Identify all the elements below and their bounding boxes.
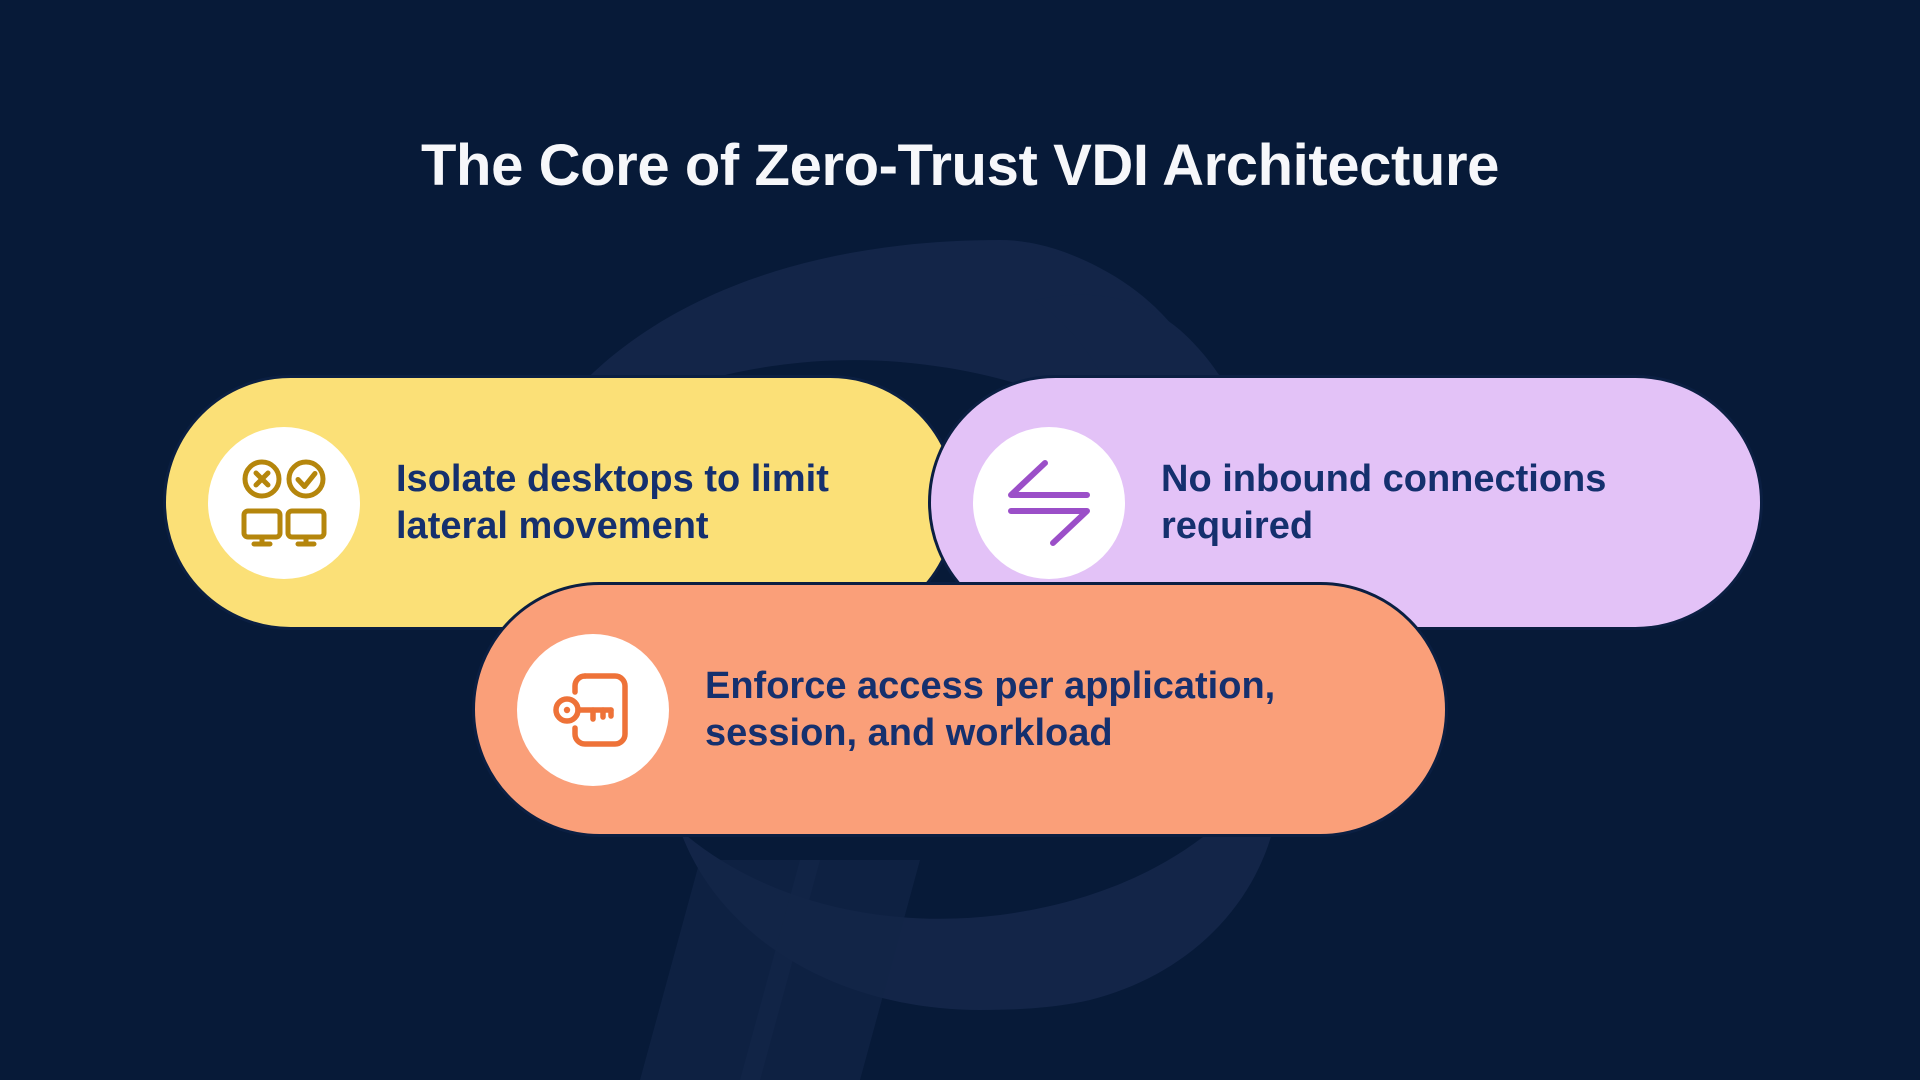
bidirectional-transfer-icon xyxy=(1001,455,1097,551)
icon-badge-inbound xyxy=(973,427,1125,579)
card-enforce-text: Enforce access per application, session,… xyxy=(705,663,1395,756)
key-door-access-icon xyxy=(545,662,641,758)
card-enforce-access[interactable]: Enforce access per application, session,… xyxy=(472,582,1448,837)
card-group: Isolate desktops to limit lateral moveme… xyxy=(0,0,1920,1080)
monitors-allow-deny-icon xyxy=(236,455,332,551)
icon-badge-enforce xyxy=(517,634,669,786)
card-isolate-text: Isolate desktops to limit lateral moveme… xyxy=(396,456,896,549)
icon-badge-isolate xyxy=(208,427,360,579)
card-inbound-text: No inbound connections required xyxy=(1161,456,1706,549)
